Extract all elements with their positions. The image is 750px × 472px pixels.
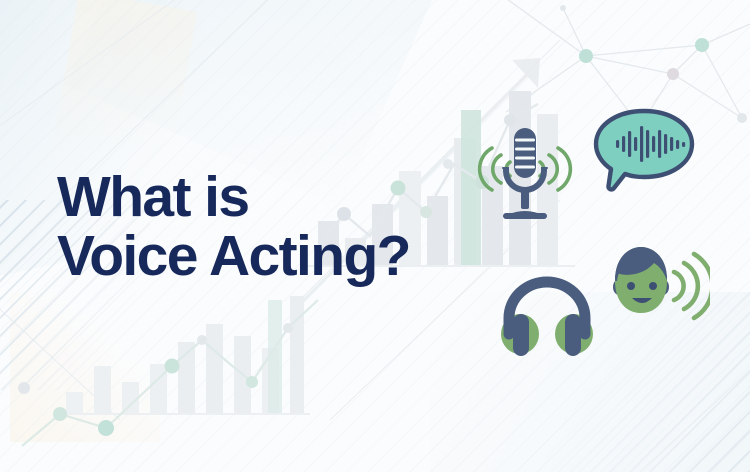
microphone-icon: [470, 120, 580, 224]
page-title: What is Voice Acting?: [57, 168, 410, 286]
microphone-grille-stripes: [517, 140, 534, 167]
speech-bubble-waveform: [616, 126, 685, 162]
face-head: [613, 247, 669, 313]
secondary-bar-chart: [18, 296, 318, 446]
headphone-band: [509, 282, 585, 334]
face-features: [627, 282, 657, 303]
headphones-icon: [497, 272, 597, 358]
speech-bubble-shape: [596, 111, 692, 189]
diagonal-stripes-bottomright: [540, 292, 750, 472]
trend-line-secondary: [22, 300, 318, 446]
background-wash-bottomright: [430, 292, 750, 472]
network-constellation: [443, 0, 750, 169]
headphone-earcups: [501, 314, 593, 354]
microphone-sound-waves-right: [540, 148, 570, 190]
headphone-driver-left: [513, 314, 529, 356]
face-sound-waves: [674, 254, 710, 318]
talking-face-icon: [608, 243, 710, 325]
banner-canvas: What is Voice Acting?: [0, 0, 750, 472]
speech-bubble-icon: [592, 106, 700, 202]
microphone-body: [502, 128, 548, 219]
microphone-sound-waves-left: [480, 148, 510, 190]
background-wash-warm-bottom: [10, 292, 160, 442]
headphone-driver-right: [565, 314, 581, 356]
